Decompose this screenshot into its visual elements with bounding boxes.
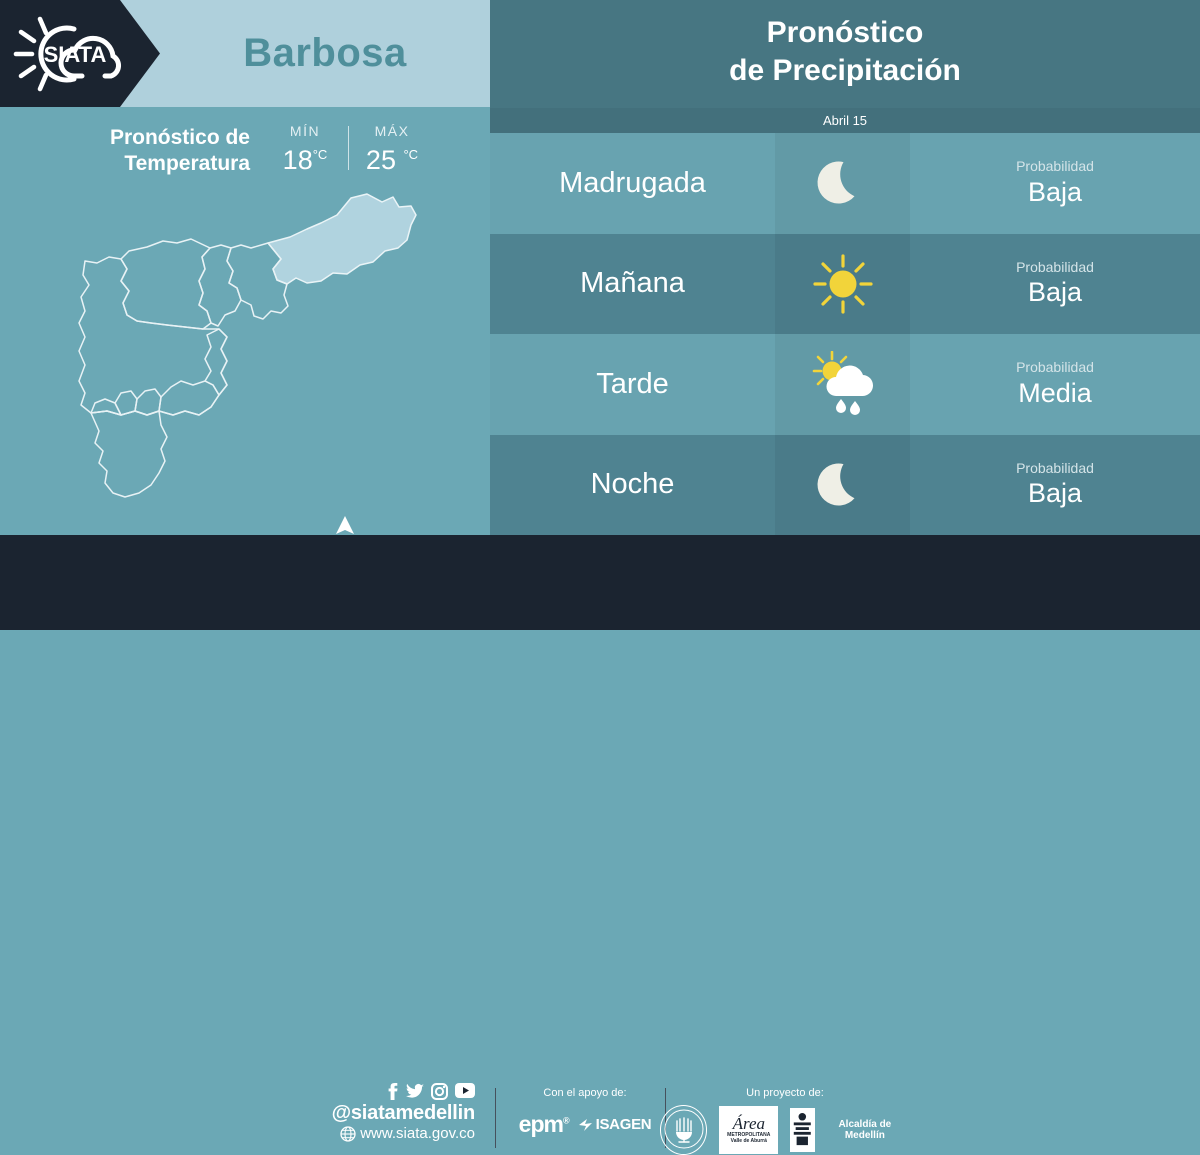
- temperature-title-line2: Temperatura: [124, 152, 250, 175]
- weather-forecast-card: SIATA Barbosa Pronóstico de Temperatura …: [0, 0, 1200, 630]
- map-region-caldas: [91, 411, 167, 497]
- sun-cloud-icon: SIATA: [12, 14, 138, 94]
- instagram-icon[interactable]: [431, 1083, 448, 1100]
- temperature-block: Pronóstico de Temperatura MÍN 18°C MÁX 2…: [60, 122, 460, 182]
- aburra-valley-map[interactable]: N: [55, 185, 455, 530]
- alcaldia-label: Alcaldía de Medellín: [820, 1119, 910, 1141]
- sun-icon: [775, 234, 910, 335]
- temperature-max: MÁX 25 °C: [359, 122, 425, 175]
- siata-logo-badge[interactable]: SIATA: [0, 0, 160, 107]
- precipitation-title-line1: Pronóstico: [767, 16, 924, 49]
- temperature-divider: [348, 126, 349, 170]
- precipitation-panel: Pronóstico de Precipitación Abril 15 Mad…: [490, 0, 1200, 535]
- table-row[interactable]: Madrugada Probabilidad Baja: [490, 133, 1200, 234]
- area-metropolitana-logo[interactable]: Área METROPOLITANA Valle de Aburrá: [719, 1106, 778, 1154]
- moon-icon: [775, 435, 910, 536]
- probability-value: Baja: [910, 178, 1200, 208]
- temperature-max-label: MÁX: [375, 122, 410, 140]
- period-label: Tarde: [490, 368, 775, 401]
- probability-label: Probabilidad: [910, 159, 1200, 174]
- social-block: @siatamedellin www.siata.gov.co: [330, 1083, 475, 1144]
- globe-icon: [340, 1126, 356, 1142]
- left-header: SIATA Barbosa: [0, 0, 490, 107]
- website-text: www.siata.gov.co: [360, 1124, 475, 1144]
- page-title: Barbosa: [160, 0, 490, 107]
- logo-wordmark: SIATA: [44, 42, 107, 67]
- map-region-bello: [121, 239, 211, 329]
- period-label: Mañana: [490, 267, 775, 300]
- precipitation-title: Pronóstico de Precipitación: [490, 14, 1200, 90]
- sun-rain-icon: [775, 334, 910, 435]
- table-row[interactable]: Noche Probabilidad Baja: [490, 435, 1200, 536]
- probability-cell: Probabilidad Baja: [910, 260, 1200, 308]
- footer-divider: [495, 1088, 496, 1148]
- probability-label: Probabilidad: [910, 260, 1200, 275]
- moon-icon: [775, 133, 910, 234]
- temperature-min-value: 18°C: [283, 140, 328, 175]
- area-script-label: Área: [733, 1116, 765, 1132]
- probability-cell: Probabilidad Baja: [910, 159, 1200, 207]
- probability-cell: Probabilidad Baja: [910, 461, 1200, 509]
- project-title: Un proyecto de:: [660, 1087, 910, 1099]
- support-block: Con el apoyo de: epm® ISAGEN: [505, 1087, 665, 1138]
- period-label: Madrugada: [490, 167, 775, 200]
- support-logos: epm® ISAGEN: [505, 1111, 665, 1138]
- temperature-values: MÍN 18°C MÁX 25 °C: [272, 122, 425, 175]
- map-region-center-strip: [205, 329, 227, 395]
- universidad-seal-icon[interactable]: [660, 1105, 707, 1155]
- forecast-date: Abril 15: [490, 108, 1200, 133]
- project-logos: Área METROPOLITANA Valle de Aburrá: [660, 1105, 910, 1155]
- isagen-mark-icon: [579, 1118, 593, 1132]
- map-region-copacabana: [199, 245, 241, 326]
- table-row[interactable]: Tarde: [490, 334, 1200, 435]
- facebook-icon[interactable]: [384, 1083, 399, 1100]
- isagen-logo[interactable]: ISAGEN: [579, 1116, 652, 1133]
- epm-logo[interactable]: epm®: [519, 1111, 569, 1138]
- website-link[interactable]: www.siata.gov.co: [330, 1124, 475, 1144]
- temperature-min-label: MÍN: [290, 122, 320, 140]
- temperature-max-value: 25 °C: [366, 140, 418, 175]
- probability-value: Baja: [910, 479, 1200, 509]
- support-title: Con el apoyo de:: [505, 1087, 665, 1099]
- temperature-title-line1: Pronóstico de: [110, 126, 250, 149]
- precipitation-header: Pronóstico de Precipitación: [490, 0, 1200, 108]
- alcaldia-mark-icon: [790, 1108, 815, 1152]
- map-region-medellin: [79, 257, 227, 415]
- temperature-title: Pronóstico de Temperatura: [60, 122, 250, 177]
- footer: @siatamedellin www.siata.gov.co Con el a…: [0, 535, 1200, 630]
- probability-value: Media: [910, 379, 1200, 409]
- forecast-rows: Madrugada Probabilidad Baja Mañana: [490, 133, 1200, 535]
- table-row[interactable]: Mañana: [490, 234, 1200, 335]
- precipitation-title-line2: de Precipitación: [729, 54, 961, 87]
- map-region-barbosa: [268, 194, 416, 284]
- probability-label: Probabilidad: [910, 360, 1200, 375]
- probability-label: Probabilidad: [910, 461, 1200, 476]
- alcaldia-logo[interactable]: Alcaldía de Medellín: [790, 1108, 910, 1152]
- probability-cell: Probabilidad Media: [910, 360, 1200, 408]
- project-block: Un proyecto de: Área: [660, 1087, 910, 1155]
- left-panel: SIATA Barbosa Pronóstico de Temperatura …: [0, 0, 490, 535]
- north-arrow-icon: [333, 515, 357, 535]
- social-icons: [330, 1083, 475, 1100]
- twitter-icon[interactable]: [406, 1083, 424, 1100]
- map-region-envigado: [159, 381, 219, 415]
- youtube-icon[interactable]: [455, 1083, 475, 1098]
- temperature-min: MÍN 18°C: [272, 122, 338, 175]
- area-sub-label-2: Valle de Aburrá: [731, 1138, 767, 1144]
- probability-value: Baja: [910, 278, 1200, 308]
- period-label: Noche: [490, 468, 775, 501]
- map-svg: [55, 185, 455, 530]
- social-handle[interactable]: @siatamedellin: [330, 1102, 475, 1124]
